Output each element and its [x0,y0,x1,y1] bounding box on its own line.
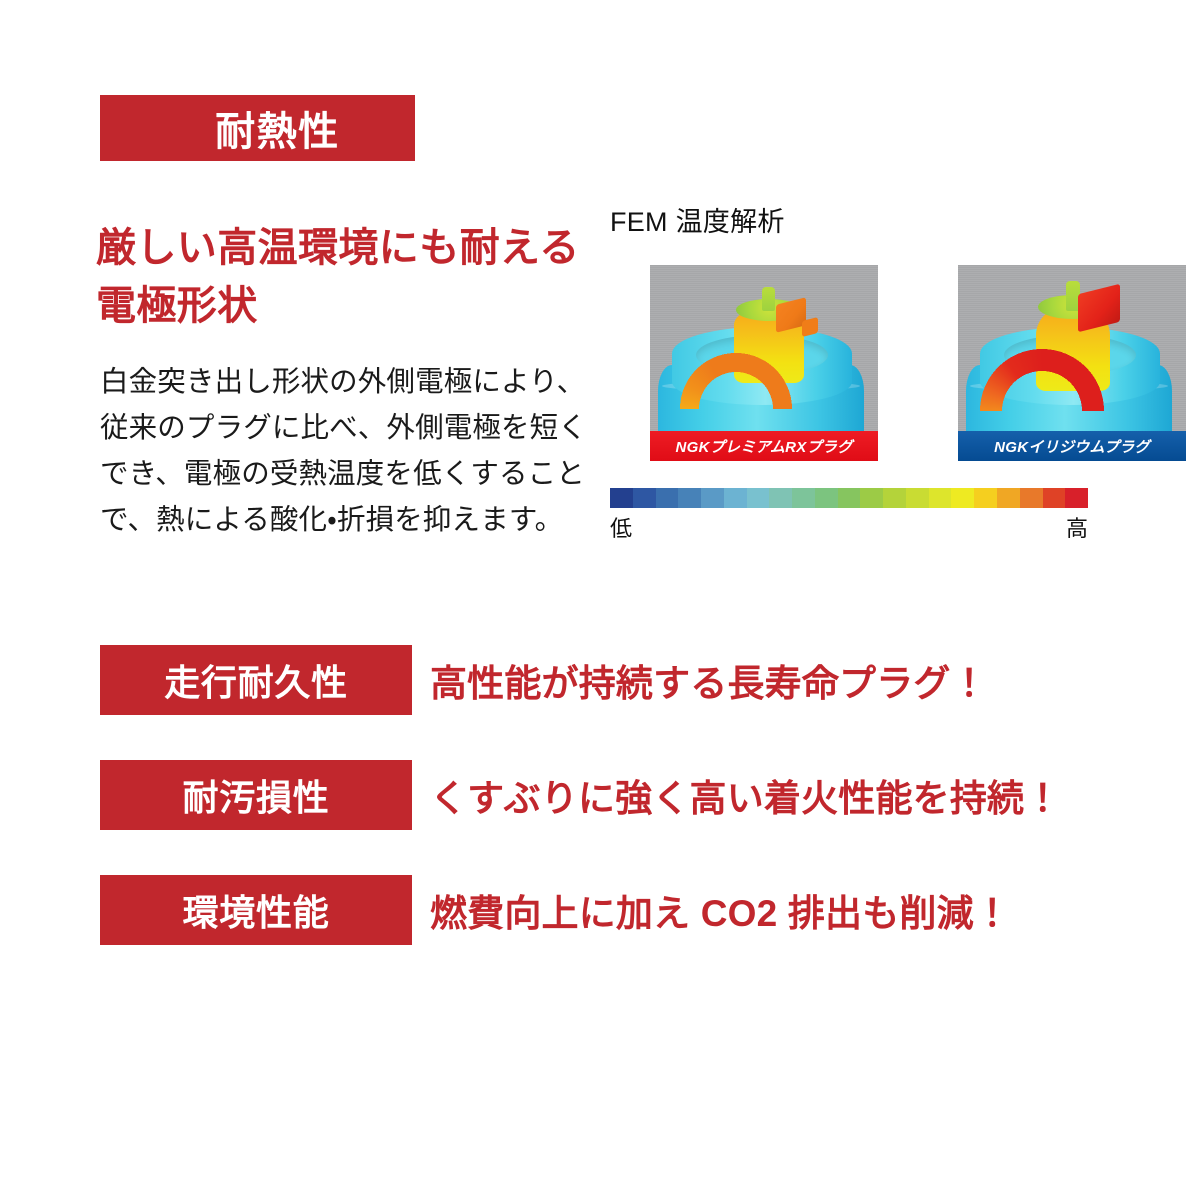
heat-resistance-body: 白金突き出し形状の外側電極により、 従来のプラグに比べ、外側電極を短く でき、電… [100,359,600,544]
feature-text-durability: 高性能が持続する長寿命プラグ！ [430,645,988,715]
temperature-scale-labels: 低 高 [610,511,1088,543]
scale-segment-11 [860,488,883,508]
scale-segment-14 [929,488,952,508]
scale-segment-15 [951,488,974,508]
feature-row-durability: 走行耐久性 高性能が持続する長寿命プラグ！ [0,645,1200,715]
scale-segment-12 [883,488,906,508]
scale-segment-4 [701,488,724,508]
scale-segment-0 [610,488,633,508]
scale-segment-3 [678,488,701,508]
heat-resistance-badge: 耐熱性 [100,95,415,161]
fem-thermal-image-iridium: NGKイリジウムプラグ [958,265,1186,461]
fem-analysis-title: FEM 温度解析 [610,200,1088,239]
scale-label-low: 低 [610,511,632,543]
scale-segment-2 [656,488,679,508]
feature-rows-section: 走行耐久性 高性能が持続する長寿命プラグ！ 耐汚損性 くすぶりに強く高い着火性能… [0,645,1200,990]
feature-row-environmental: 環境性能 燃費向上に加え CO2 排出も削減！ [0,875,1200,945]
scale-label-high: 高 [1066,511,1088,543]
fem-image-pair: NGKプレミアムRXプラグ NGKイリジウムプラグ [610,249,1088,477]
scale-segment-5 [724,488,747,508]
fem-card-iridium: NGKイリジウムプラグ [958,265,1186,461]
scale-segment-8 [792,488,815,508]
fem-caption-iridium: NGKイリジウムプラグ [958,431,1186,461]
scale-segment-16 [974,488,997,508]
scale-segment-9 [815,488,838,508]
body-line-1: 白金突き出し形状の外側電極により、 [100,359,600,405]
feature-text-environmental: 燃費向上に加え CO2 排出も削減！ [430,875,1011,945]
body-line-4: で、熱による酸化・折損を抑えます。 [100,497,600,543]
scale-segment-6 [747,488,770,508]
scale-segment-20 [1065,488,1088,508]
scale-segment-17 [997,488,1020,508]
body-line-3: でき、電極の受熱温度を低くすること [100,451,600,497]
temperature-scale-bar [610,488,1088,508]
scale-segment-10 [838,488,861,508]
scale-segment-19 [1043,488,1066,508]
fem-caption-premium-rx: NGKプレミアムRXプラグ [650,431,878,461]
fem-thermal-image-premium-rx: NGKプレミアムRXプラグ [650,265,878,461]
feature-badge-durability: 走行耐久性 [100,645,412,715]
feature-badge-fouling-resistance: 耐汚損性 [100,760,412,830]
scale-segment-13 [906,488,929,508]
scale-segment-1 [633,488,656,508]
feature-row-fouling-resistance: 耐汚損性 くすぶりに強く高い着火性能を持続！ [0,760,1200,830]
fem-card-premium-rx: NGKプレミアムRXプラグ [650,265,878,461]
heat-resistance-section: 耐熱性 厳しい高温環境にも耐える 電極形状 白金突き出し形状の外側電極により、 … [0,0,1200,620]
body-line-2: 従来のプラグに比べ、外側電極を短く [100,405,600,451]
fem-analysis-block: FEM 温度解析 NGKプレミアムRXプラグ [610,200,1088,543]
feature-badge-environmental: 環境性能 [100,875,412,945]
scale-segment-18 [1020,488,1043,508]
heading-line-1: 厳しい高温環境にも耐える [96,226,580,270]
heat-resistance-heading: 厳しい高温環境にも耐える 電極形状 [96,219,616,335]
scale-segment-7 [769,488,792,508]
heading-line-2: 電極形状 [96,284,258,328]
feature-text-fouling-resistance: くすぶりに強く高い着火性能を持続！ [430,760,1061,830]
